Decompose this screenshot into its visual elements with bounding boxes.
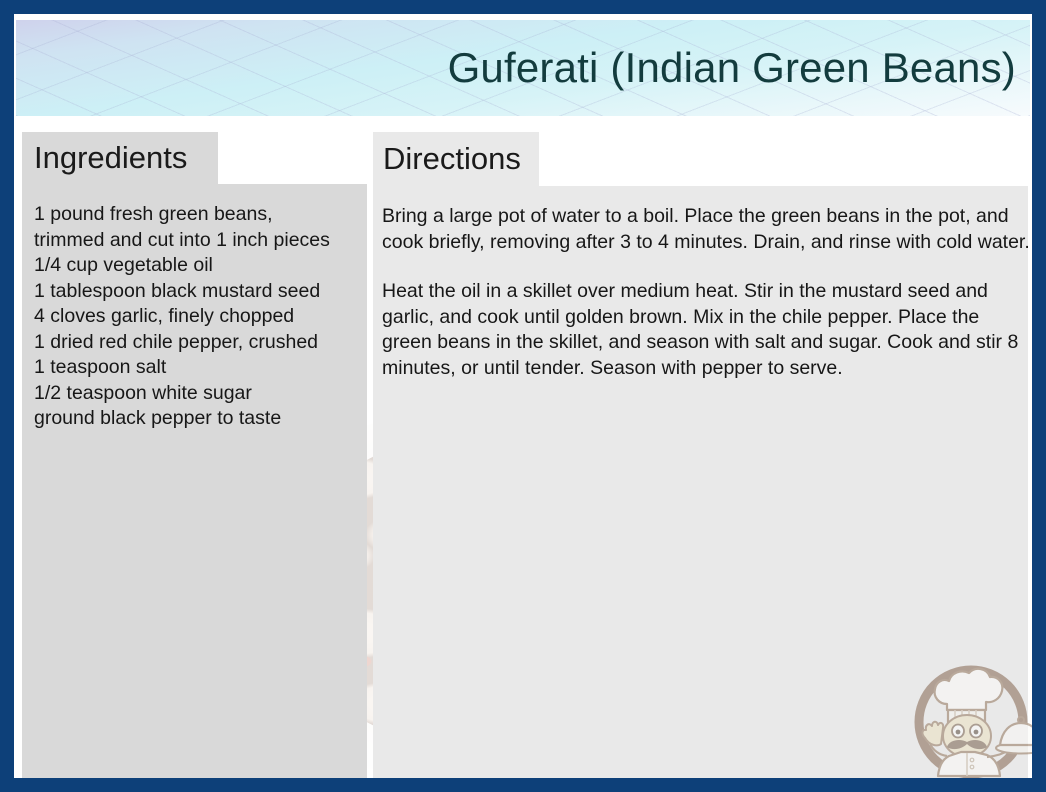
- directions-text: Bring a large pot of water to a boil. Pl…: [382, 204, 1030, 381]
- list-item: 4 cloves garlic, finely chopped: [34, 304, 368, 330]
- list-item: ground black pepper to taste: [34, 406, 368, 432]
- ingredients-tab: Ingredients: [22, 132, 218, 184]
- list-item: 1 dried red chile pepper, crushed: [34, 330, 368, 356]
- page-title: Guferati (Indian Green Beans): [448, 44, 1016, 92]
- direction-paragraph: Bring a large pot of water to a boil. Pl…: [382, 204, 1030, 255]
- header-banner: Guferati (Indian Green Beans): [16, 20, 1030, 116]
- list-item: 1/2 teaspoon white sugar: [34, 381, 368, 407]
- ingredients-list: 1 pound fresh green beans, trimmed and c…: [34, 202, 368, 432]
- list-item: 1/4 cup vegetable oil: [34, 253, 368, 279]
- recipe-card: Guferati (Indian Green Beans) Ingredient…: [0, 0, 1046, 792]
- chef-logo: [903, 652, 1043, 784]
- direction-paragraph: Heat the oil in a skillet over medium he…: [382, 279, 1030, 381]
- list-item: 1 teaspoon salt: [34, 355, 368, 381]
- list-item: trimmed and cut into 1 inch pieces: [34, 228, 368, 254]
- directions-heading: Directions: [383, 141, 521, 177]
- directions-tab: Directions: [373, 132, 539, 186]
- ingredients-heading: Ingredients: [34, 140, 187, 176]
- list-item: 1 pound fresh green beans,: [34, 202, 368, 228]
- list-item: 1 tablespoon black mustard seed: [34, 279, 368, 305]
